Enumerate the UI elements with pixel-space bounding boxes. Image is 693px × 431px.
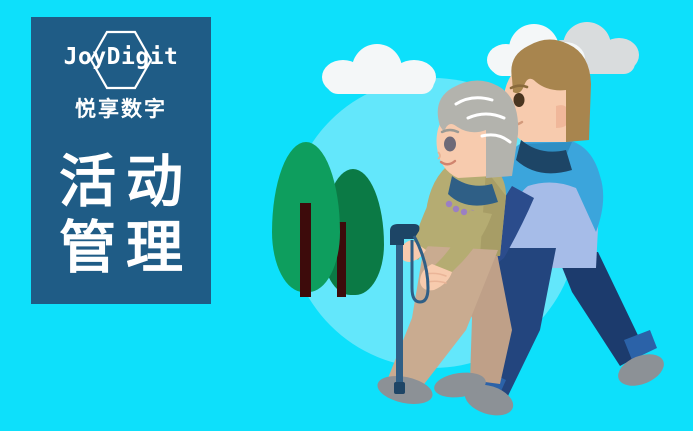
- logo-wordmark: JoyDigit: [31, 46, 211, 69]
- page-title-line-2: 管理: [31, 215, 211, 281]
- man-eye: [514, 93, 525, 107]
- cane-ferrule: [394, 382, 405, 394]
- logo-chinese-name: 悦享数字: [31, 99, 211, 120]
- woman-eye: [444, 137, 456, 152]
- logo: JoyDigit: [31, 29, 211, 91]
- page-title: 活动 管理: [31, 149, 211, 281]
- page-title-line-1: 活动: [31, 149, 211, 215]
- poster-canvas: JoyDigit 悦享数字 活动 管理: [0, 0, 693, 431]
- cane-shaft: [396, 245, 403, 393]
- brand-panel: JoyDigit 悦享数字 活动 管理: [31, 17, 211, 304]
